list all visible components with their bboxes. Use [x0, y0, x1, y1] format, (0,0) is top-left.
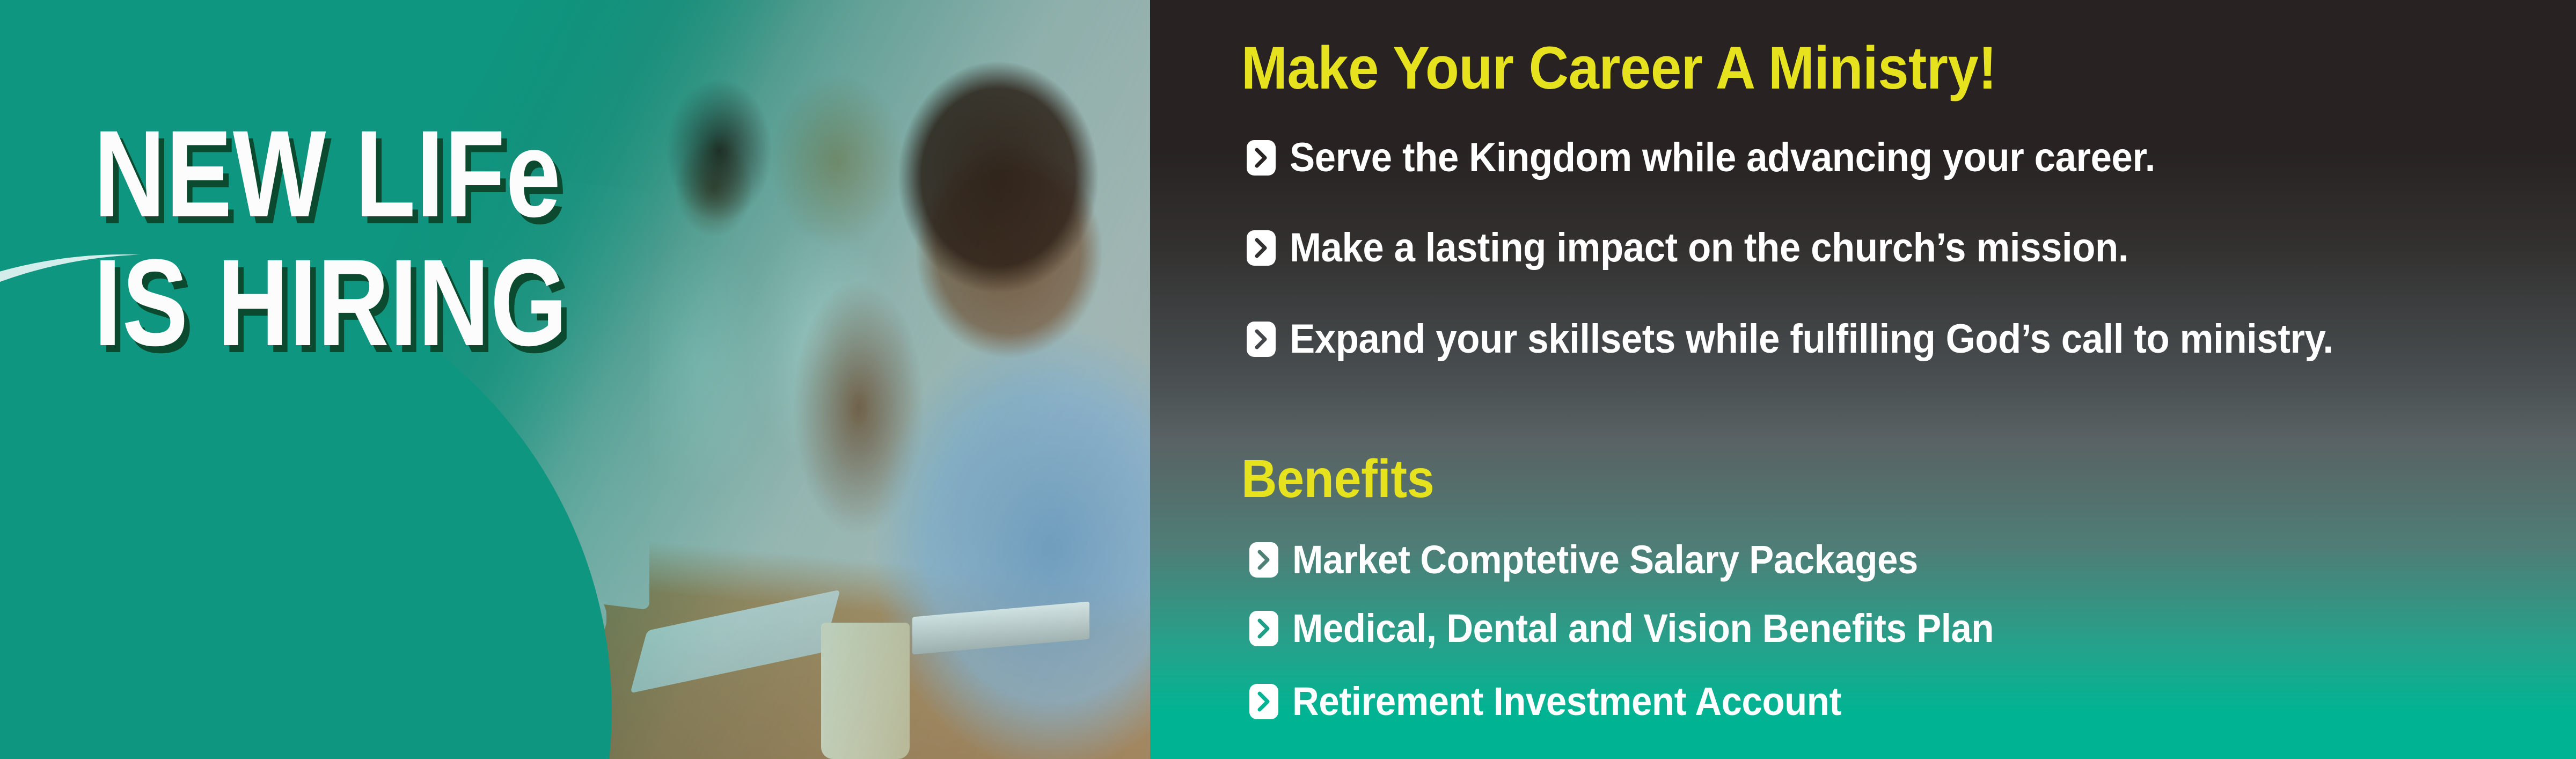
hero-image-panel: NEW LIFe IS HIRING	[0, 0, 1150, 759]
chevron-right-icon	[1247, 230, 1276, 266]
chevron-right-icon	[1247, 140, 1276, 176]
career-bullet-item: Expand your skillsets while fulfilling G…	[1247, 316, 2412, 362]
benefit-item: Retirement Investment Account	[1249, 678, 1883, 724]
benefit-label: Medical, Dental and Vision Benefits Plan	[1292, 605, 1994, 651]
benefit-item: Market Comptetive Salary Packages	[1249, 537, 1965, 582]
career-section-title: Make Your Career A Ministry!	[1241, 33, 1996, 103]
chevron-right-icon	[1249, 542, 1278, 578]
career-bullet-label: Expand your skillsets while fulfilling G…	[1290, 316, 2333, 362]
career-bullet-item: Serve the Kingdom while advancing your c…	[1247, 134, 2220, 181]
headline-line-1: NEW LIFe	[94, 121, 568, 227]
benefits-section-title: Benefits	[1241, 448, 1434, 510]
chevron-right-icon	[1249, 611, 1278, 646]
hiring-banner: NEW LIFe IS HIRING Make Your Career A Mi…	[0, 0, 2576, 759]
hero-headline: NEW LIFe IS HIRING	[94, 121, 686, 356]
benefit-label: Market Comptetive Salary Packages	[1292, 537, 1918, 582]
chevron-right-icon	[1249, 684, 1278, 719]
benefit-item: Medical, Dental and Vision Benefits Plan	[1249, 605, 2046, 651]
chevron-right-icon	[1247, 322, 1276, 357]
career-bullet-label: Serve the Kingdom while advancing your c…	[1290, 134, 2155, 181]
career-bullet-item: Make a lasting impact on the church’s mi…	[1247, 224, 2192, 271]
benefit-label: Retirement Investment Account	[1292, 678, 1841, 724]
content-panel: Make Your Career A Ministry! Serve the K…	[1150, 0, 2576, 759]
headline-line-2: IS HIRING	[94, 250, 568, 356]
career-bullet-label: Make a lasting impact on the church’s mi…	[1290, 224, 2128, 271]
